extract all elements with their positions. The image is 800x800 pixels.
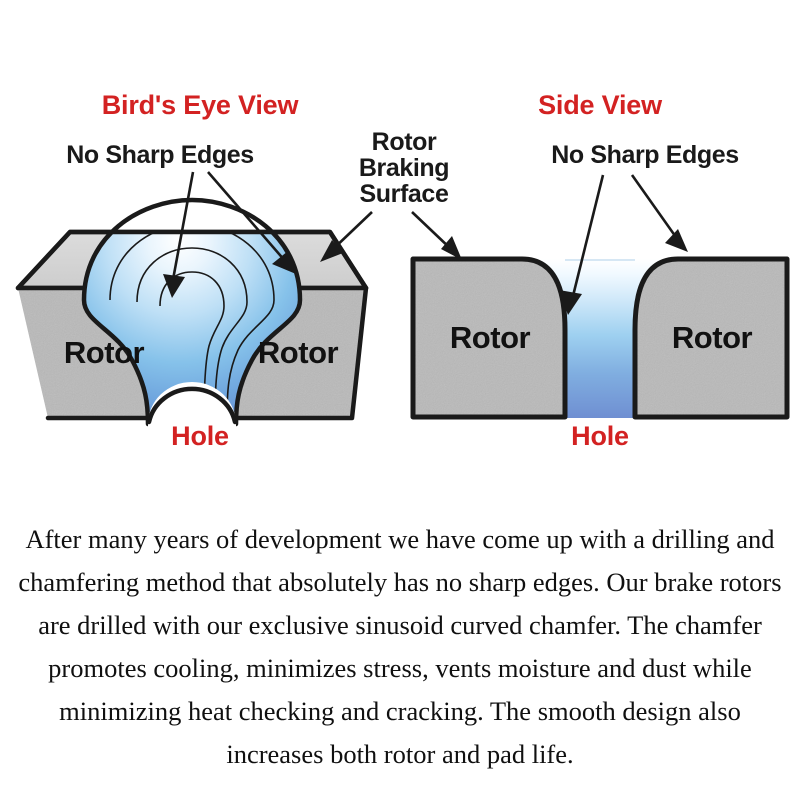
description-paragraph: After many years of development we have …	[10, 518, 790, 776]
rotor-label-right: Rotor	[258, 335, 339, 370]
side-no-sharp-edges-leader-2	[632, 175, 678, 240]
description-paragraph-container: After many years of development we have …	[0, 518, 800, 776]
side-no-sharp-edges-arrowhead-2	[665, 229, 688, 252]
side-view-rotor-label-left: Rotor	[450, 320, 531, 355]
rotor-chamfer-illustration: Bird's Eye View Rotor Rotor Hole	[0, 0, 800, 470]
side-view-diagram: Side View Rotor Rotor Hole No Sharp Edge…	[413, 90, 787, 451]
no-sharp-edges-label-right: No Sharp Edges	[551, 141, 739, 169]
side-view-rotor-label-right: Rotor	[672, 320, 753, 355]
no-sharp-edges-label-left: No Sharp Edges	[66, 141, 254, 169]
hole-label-side-view: Hole	[571, 421, 629, 451]
rotor-label-left: Rotor	[64, 335, 145, 370]
rotor-braking-surface-line-1: Rotor	[372, 128, 437, 156]
rotor-braking-surface-line-2: Braking	[359, 154, 449, 182]
rotor-braking-surface-line-3: Surface	[360, 180, 449, 208]
rotor-braking-surface-arrowhead-right	[441, 236, 462, 260]
side-view-title: Side View	[538, 90, 663, 120]
hole-label-birds-eye: Hole	[171, 421, 229, 451]
birds-eye-view-title: Bird's Eye View	[102, 90, 300, 120]
diagram-stage: Bird's Eye View Rotor Rotor Hole	[0, 0, 800, 470]
birds-eye-view-diagram: Bird's Eye View Rotor Rotor Hole	[18, 90, 462, 451]
